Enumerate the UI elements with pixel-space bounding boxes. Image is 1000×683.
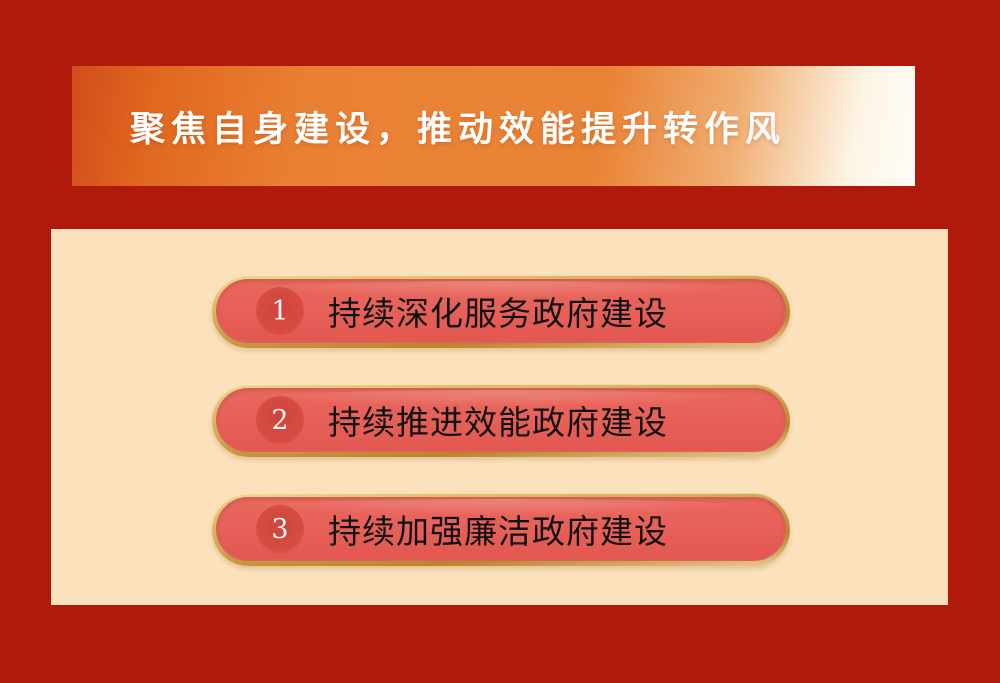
list-item-label: 持续深化服务政府建设 <box>328 287 786 335</box>
list-item-number-badge: 1 <box>256 287 304 335</box>
content-panel: 1 持续深化服务政府建设 2 持续推进效能政府建设 3 持续加强廉洁政府建设 <box>51 229 948 605</box>
list-item-body: 2 持续推进效能政府建设 <box>216 388 786 452</box>
title-banner: 聚焦自身建设，推动效能提升转作风 <box>72 66 915 186</box>
list-item[interactable]: 2 持续推进效能政府建设 <box>212 384 790 457</box>
list-item-label: 持续加强廉洁政府建设 <box>328 505 786 553</box>
list-item-number-badge: 3 <box>256 505 304 553</box>
list-item[interactable]: 3 持续加强廉洁政府建设 <box>212 493 790 566</box>
list-item[interactable]: 1 持续深化服务政府建设 <box>212 275 790 348</box>
poster-canvas: 聚焦自身建设，推动效能提升转作风 1 持续深化服务政府建设 2 持续推进效能政府… <box>0 0 1000 683</box>
page-title: 聚焦自身建设，推动效能提升转作风 <box>130 66 786 186</box>
list-item-number-badge: 2 <box>256 396 304 444</box>
list-item-body: 3 持续加强廉洁政府建设 <box>216 497 786 561</box>
list-item-body: 1 持续深化服务政府建设 <box>216 279 786 343</box>
list-item-label: 持续推进效能政府建设 <box>328 396 786 444</box>
key-points-list: 1 持续深化服务政府建设 2 持续推进效能政府建设 3 持续加强廉洁政府建设 <box>212 275 790 566</box>
